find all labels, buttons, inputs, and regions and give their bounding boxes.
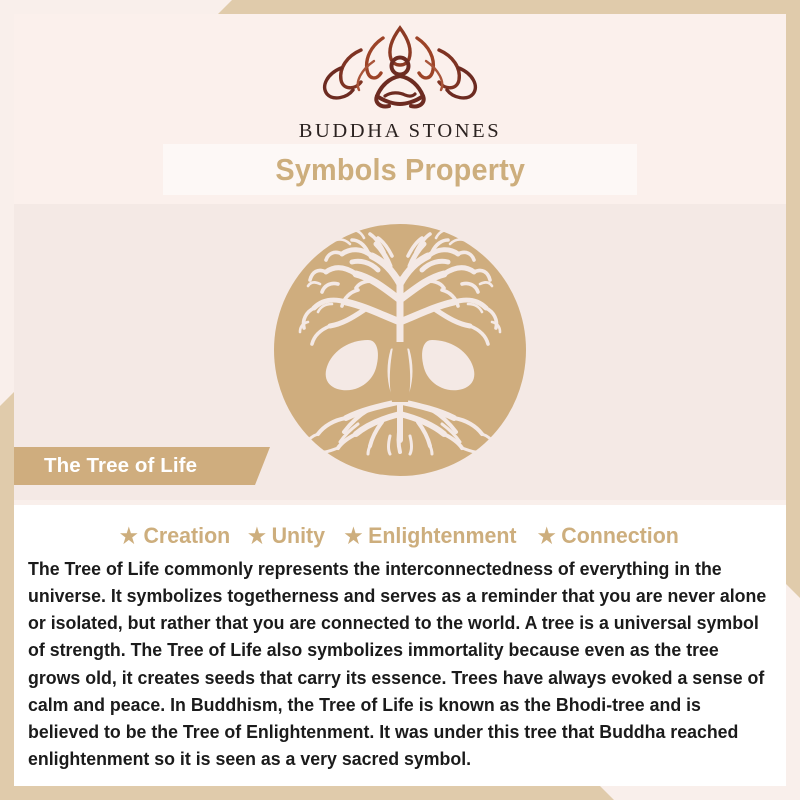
poster-root: BUDDHA STONES Symbols Property: [0, 0, 800, 800]
keyword-item-unity: ★ Unity: [248, 523, 325, 549]
description-paragraph: The Tree of Life commonly represents the…: [28, 555, 772, 772]
frame-band-left: [0, 196, 14, 800]
keyword-item-enlightenment: ★ Enlightenment: [345, 523, 517, 549]
page-title: Symbols Property: [275, 152, 525, 188]
section-title: The Tree of Life: [14, 454, 197, 478]
keyword-label: Enlightenment: [368, 523, 516, 549]
keyword-label: Connection: [562, 523, 680, 549]
frame-band-top: [0, 0, 800, 14]
tree-of-life-icon: [272, 222, 528, 478]
keyword-label: Creation: [144, 523, 231, 549]
frame-band-right: [786, 0, 800, 598]
keyword-label: Unity: [272, 523, 325, 549]
brand-logo: BUDDHA STONES: [14, 18, 786, 143]
lotus-meditation-figure-icon: [311, 18, 489, 118]
brand-name: BUDDHA STONES: [299, 120, 502, 143]
star-icon: ★: [345, 526, 363, 547]
keyword-item-creation: ★ Creation: [120, 523, 230, 549]
star-icon: ★: [538, 526, 556, 547]
star-icon: ★: [120, 526, 138, 547]
frame-band-bottom: [0, 786, 800, 800]
title-plate: Symbols Property: [163, 144, 637, 195]
keyword-list: ★ Creation ★ Unity ★ Enlightenment ★ Con…: [28, 523, 772, 549]
content-panel: ★ Creation ★ Unity ★ Enlightenment ★ Con…: [14, 505, 786, 786]
keyword-item-connection: ★ Connection: [538, 523, 679, 549]
section-ribbon: The Tree of Life: [14, 447, 270, 485]
star-icon: ★: [248, 526, 266, 547]
